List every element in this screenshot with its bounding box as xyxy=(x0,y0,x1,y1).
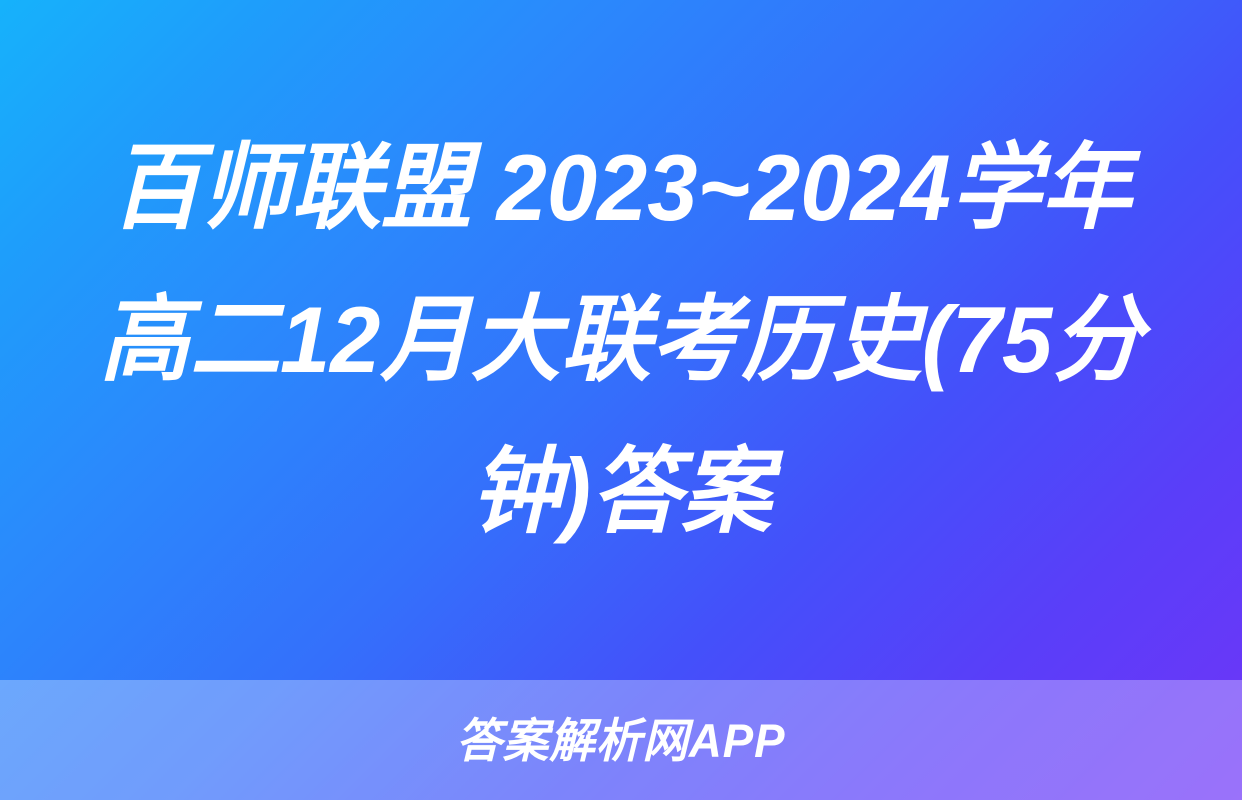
app-promo-banner[interactable]: 答案解析网APP xyxy=(0,680,1242,800)
app-promo-banner-label: 答案解析网APP xyxy=(456,717,785,764)
page-title: 百师联盟 2023~2024学年高二12月大联考历史(75分钟)答案 xyxy=(88,112,1154,569)
title-block: 百师联盟 2023~2024学年高二12月大联考历史(75分钟)答案 xyxy=(0,0,1242,680)
poster-canvas: 百师联盟 2023~2024学年高二12月大联考历史(75分钟)答案 答案解析网… xyxy=(0,0,1242,800)
